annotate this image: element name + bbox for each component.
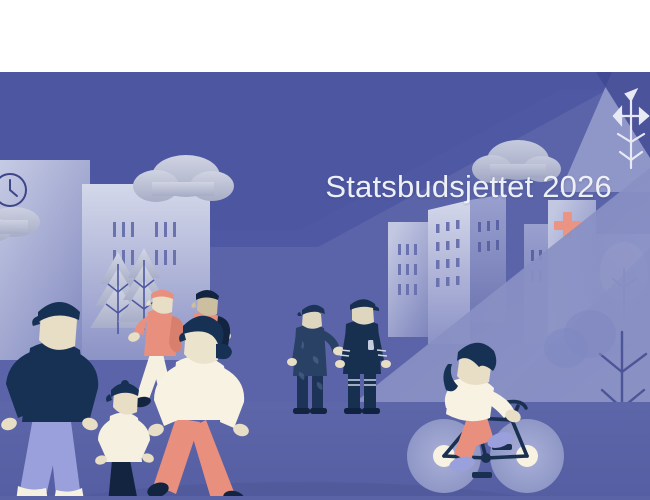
page-title: Statsbudsjettet 2026 xyxy=(325,169,612,205)
screenshot-root: Statsbudsjettet 2026 xyxy=(0,0,650,500)
hero-illustration-banner: Statsbudsjettet 2026 xyxy=(0,72,650,500)
top-white-band xyxy=(0,0,650,72)
ground-bottom-edge xyxy=(0,496,650,500)
city-scene-illustration xyxy=(0,72,650,500)
